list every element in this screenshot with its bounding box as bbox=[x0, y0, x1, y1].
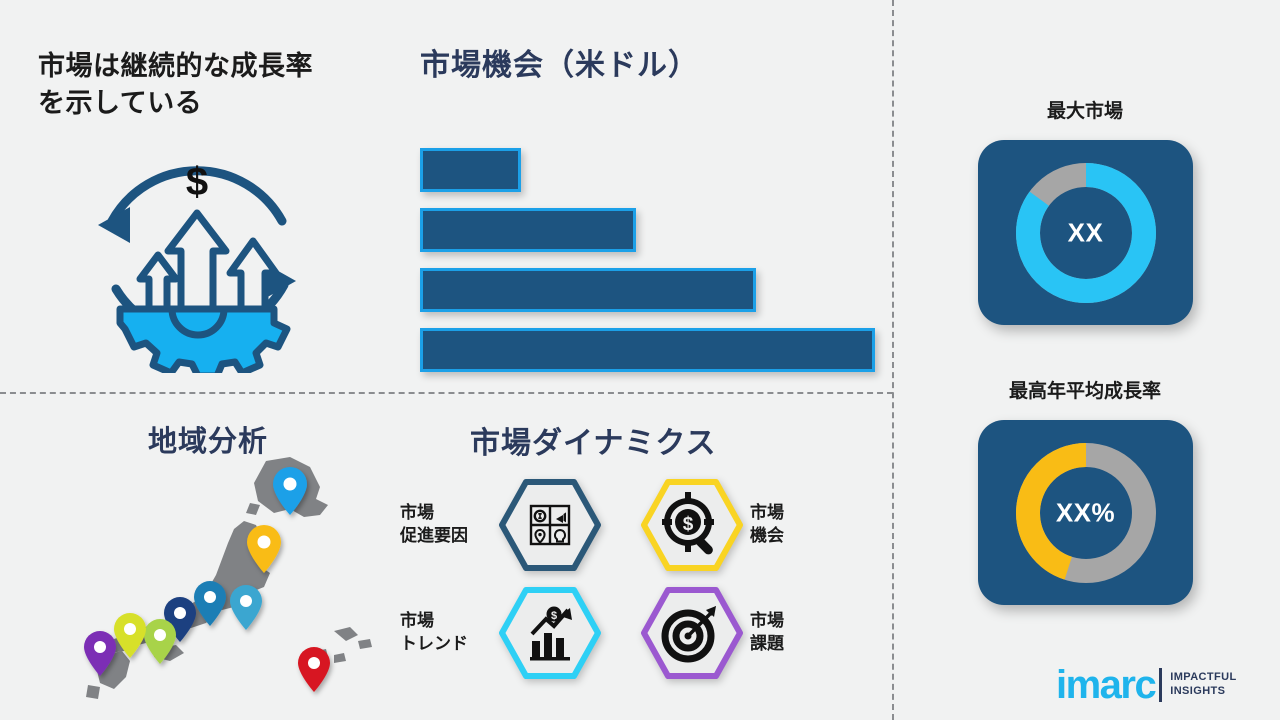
market-challenges-label: 市場 課題 bbox=[750, 610, 842, 656]
imarc-logo-mark: imarc bbox=[1056, 667, 1155, 703]
bar-row bbox=[420, 268, 880, 312]
market-dynamics-grid: 市場 促進要因 bbox=[400, 478, 860, 700]
svg-text:$: $ bbox=[683, 514, 694, 535]
bar-4 bbox=[420, 328, 875, 372]
vertical-divider bbox=[892, 0, 894, 720]
largest-market-title: 最大市場 bbox=[940, 96, 1230, 123]
highest-cagr-title: 最高年平均成長率 bbox=[940, 376, 1230, 403]
horizontal-divider bbox=[0, 392, 893, 394]
opportunity-panel-title: 市場機会（米ドル） bbox=[420, 48, 870, 84]
bar-row bbox=[420, 208, 880, 252]
market-drivers-label: 市場 促進要因 bbox=[400, 502, 492, 548]
pin-kanto bbox=[230, 585, 262, 630]
bar-1 bbox=[420, 148, 521, 192]
dynamics-panel-title: 市場ダイナミクス bbox=[470, 418, 717, 462]
market-opportunities-hex: $ bbox=[640, 478, 744, 572]
largest-market-value: XX bbox=[1008, 155, 1163, 310]
market-trends-hex: $ bbox=[498, 586, 602, 680]
infographic-page: 市場は継続的な成長率 を示している $ 市場機会 bbox=[0, 0, 1280, 720]
growth-gear-dollar-icon: $ bbox=[72, 133, 322, 373]
market-drivers-item[interactable]: 市場 促進要因 bbox=[400, 478, 602, 572]
highest-cagr-donut: XX% bbox=[1008, 435, 1163, 590]
market-trends-item[interactable]: 市場 トレンド $ bbox=[400, 586, 602, 680]
market-opportunities-label: 市場 機会 bbox=[750, 502, 842, 548]
imarc-logo-tagline: IMPACTFUL INSIGHTS bbox=[1170, 671, 1236, 699]
highest-cagr-card: XX% bbox=[978, 420, 1193, 605]
bar-row bbox=[420, 328, 880, 372]
bar-row bbox=[420, 148, 880, 192]
market-opportunity-bar-chart bbox=[420, 148, 880, 348]
regional-panel-title: 地域分析 bbox=[148, 418, 268, 460]
growth-panel-title: 市場は継続的な成長率 を示している bbox=[38, 48, 388, 123]
logo-divider bbox=[1159, 668, 1162, 702]
japan-map bbox=[58, 455, 388, 705]
svg-text:$: $ bbox=[551, 610, 557, 622]
bar-2 bbox=[420, 208, 636, 252]
largest-market-donut: XX bbox=[1008, 155, 1163, 310]
market-challenges-item[interactable]: 市場 課題 bbox=[640, 586, 842, 680]
imarc-logo: imarc IMPACTFUL INSIGHTS bbox=[1056, 662, 1256, 708]
highest-cagr-value: XX% bbox=[1008, 435, 1163, 590]
market-opportunities-item[interactable]: $ 市場 機会 bbox=[640, 478, 842, 572]
market-trends-label: 市場 トレンド bbox=[400, 610, 492, 656]
pin-okinawa bbox=[298, 647, 330, 692]
bar-3 bbox=[420, 268, 756, 312]
svg-text:$: $ bbox=[186, 160, 208, 204]
market-drivers-hex bbox=[498, 478, 602, 572]
market-challenges-hex bbox=[640, 586, 744, 680]
largest-market-card: XX bbox=[978, 140, 1193, 325]
